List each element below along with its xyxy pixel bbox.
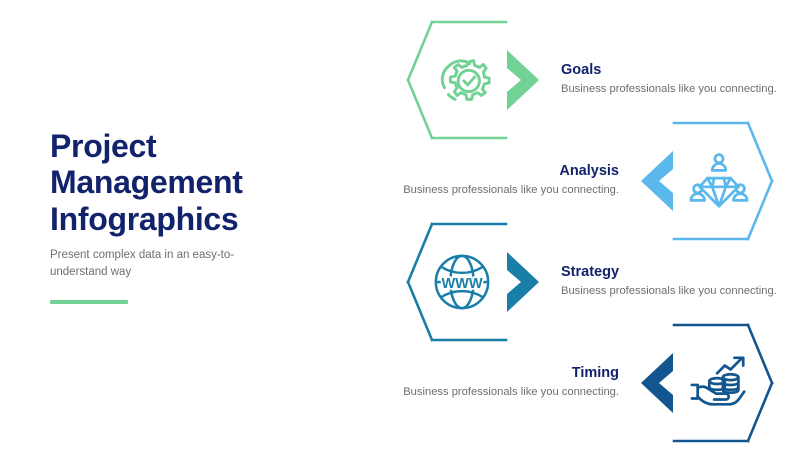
chevron-right-icon-goals [503, 48, 547, 112]
step-title-timing: Timing [386, 364, 619, 382]
chevron-right-icon-strategy [503, 250, 547, 314]
www-globe-icon: WWW [431, 251, 493, 313]
slide-canvas: Project Management Infographics Present … [0, 0, 800, 450]
page-title-line-3: Infographics [50, 201, 350, 237]
step-description-goals: Business professionals like you connecti… [561, 82, 794, 98]
page-title-line-2: Management [50, 164, 350, 200]
hex-wrap-timing [651, 319, 786, 447]
svg-text:WWW: WWW [441, 275, 482, 291]
step-text-analysis: Analysis Business professionals like you… [380, 162, 651, 199]
step-description-analysis: Business professionals like you connecti… [386, 183, 619, 199]
step-description-timing: Business professionals like you connecti… [386, 385, 619, 401]
accent-rule [50, 300, 128, 304]
infographic-steps: Goals Business professionals like you co… [380, 0, 800, 450]
chevron-left-icon-analysis [633, 149, 677, 213]
page-title-line-1: Project [50, 128, 350, 164]
diamond-people-icon [688, 150, 750, 212]
page-subtitle: Present complex data in an easy-to-under… [50, 247, 265, 280]
gear-check-icon [431, 49, 493, 111]
step-title-analysis: Analysis [386, 162, 619, 180]
step-title-goals: Goals [561, 61, 794, 79]
step-title-strategy: Strategy [561, 263, 794, 281]
step-description-strategy: Business professionals like you connecti… [561, 284, 794, 300]
step-text-timing: Timing Business professionals like you c… [380, 364, 651, 401]
chevron-left-icon-timing [633, 351, 677, 415]
step-text-goals: Goals Business professionals like you co… [529, 61, 800, 98]
title-block: Project Management Infographics Present … [50, 128, 350, 304]
hand-coins-growth-icon [688, 352, 750, 414]
step-item-timing[interactable]: Timing Business professionals like you c… [380, 315, 800, 450]
step-text-strategy: Strategy Business professionals like you… [529, 263, 800, 300]
